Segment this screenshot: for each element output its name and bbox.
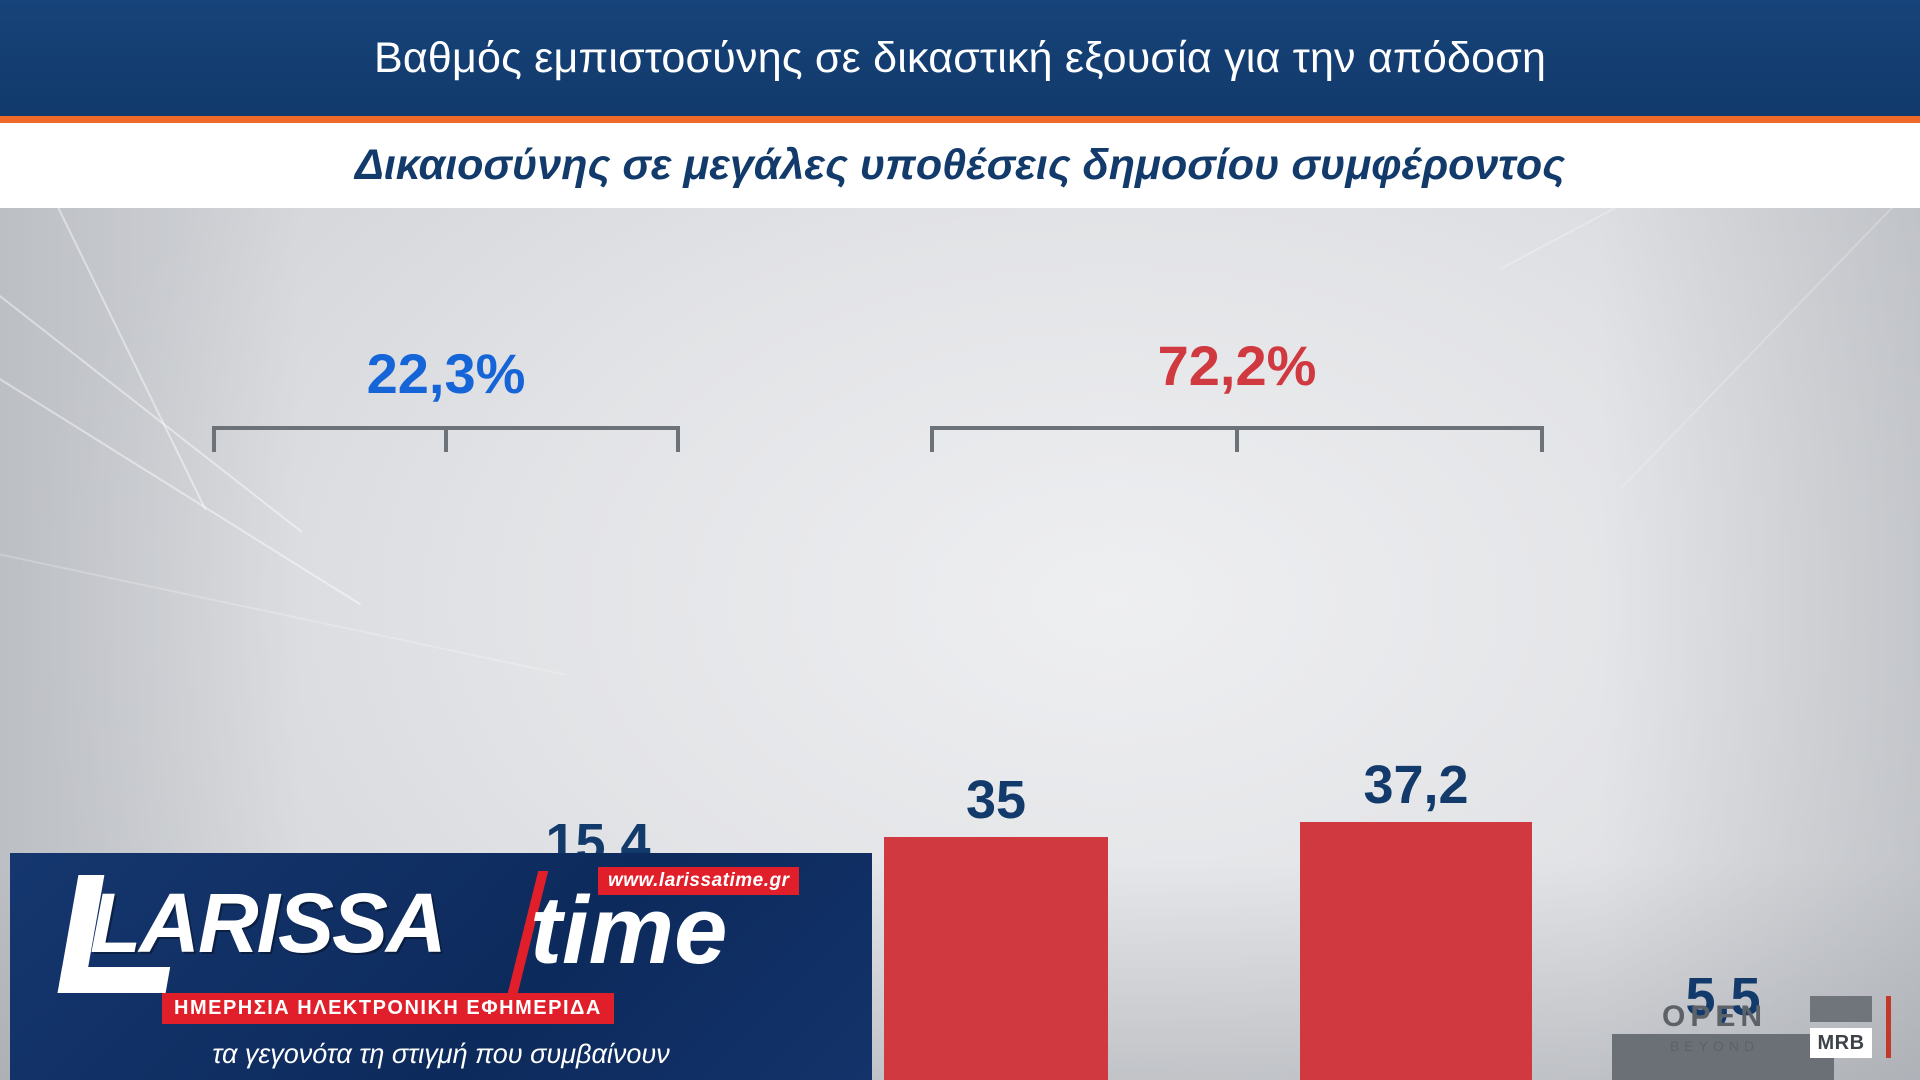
open-beyond-logo: OPEN BEYOND [1662, 1000, 1767, 1054]
group-bracket-distrust [930, 426, 1544, 452]
mrb-accent-rule [1886, 996, 1891, 1058]
group-total-trust: 22,3% [212, 346, 680, 402]
bar-group-ligo: 35 Λίγο [884, 600, 1108, 1080]
header-title-band: Βαθμός εμπιστοσύνης σε δικαστική εξουσία… [0, 0, 1920, 116]
header-subtitle-band: Δικαιοσύνης σε μεγάλες υποθέσεις δημοσίο… [0, 123, 1920, 208]
open-wordmark: OPEN [1662, 1000, 1767, 1034]
logo-tagline: τα γεγονότα τη στιγμή που συμβαίνουν [10, 1039, 872, 1070]
bar-ligo [884, 837, 1108, 1080]
larissatime-logo[interactable]: LARISSA time www.larissatime.gr ΗΜΕΡΗΣΙΑ… [10, 853, 872, 1080]
bar-value-katholou: 37,2 [1266, 758, 1566, 812]
logo-url[interactable]: www.larissatime.gr [598, 867, 799, 895]
logo-time-word: time [530, 883, 727, 979]
open-sub-wordmark: BEYOND [1662, 1038, 1767, 1054]
mrb-bar-icon [1810, 996, 1872, 1022]
page-title-line1: Βαθμός εμπιστοσύνης σε δικαστική εξουσία… [374, 34, 1546, 83]
mrb-logo: MRB [1810, 996, 1872, 1058]
group-bracket-trust [212, 426, 680, 452]
mrb-wordmark: MRB [1810, 1028, 1872, 1058]
logo-subtitle: ΗΜΕΡΗΣΙΑ ΗΛΕΚΤΡΟΝΙΚΗ ΕΦΗΜΕΡΙΔΑ [162, 993, 614, 1024]
header-accent-rule [0, 116, 1920, 123]
bar-value-ligo: 35 [846, 773, 1146, 827]
logo-wordmark: LARISSA [90, 881, 445, 965]
page-title-line2: Δικαιοσύνης σε μεγάλες υποθέσεις δημοσίο… [355, 141, 1565, 190]
group-total-distrust: 72,2% [930, 338, 1544, 394]
bar-group-katholou: 37,2 Καθόλου [1300, 580, 1532, 1080]
bar-katholou [1300, 822, 1532, 1080]
